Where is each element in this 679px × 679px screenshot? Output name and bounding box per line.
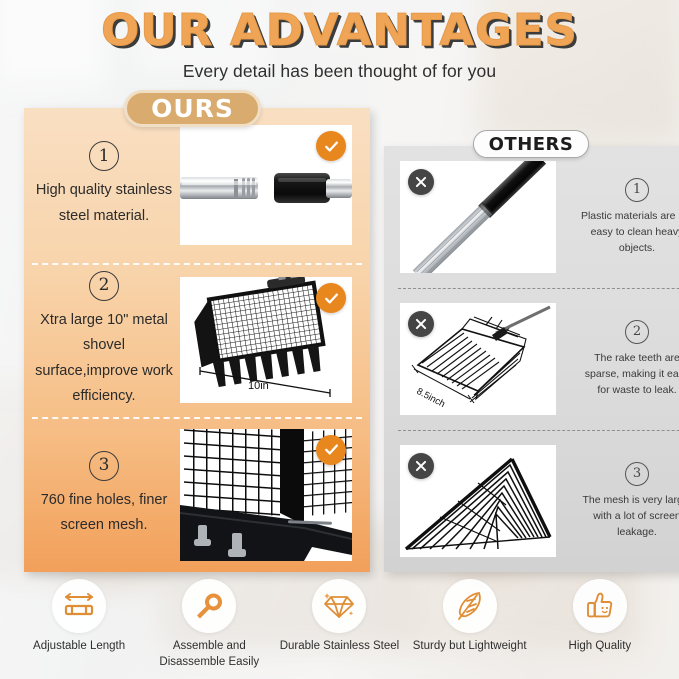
adjustable-length-icon <box>52 579 106 633</box>
others-badge: OTHERS <box>473 130 589 158</box>
thumbs-up-icon <box>573 579 627 633</box>
ours-row-1-number: 1 <box>89 141 119 171</box>
feature-lightweight: Sturdy but Lightweight <box>409 579 531 655</box>
x-icon <box>408 453 434 479</box>
feature-high-quality-label: High Quality <box>539 639 661 655</box>
ours-row-2-number: 2 <box>89 271 119 301</box>
others-row-2-image: 8.5inch <box>400 303 556 415</box>
ours-badge: OURS <box>124 90 261 127</box>
feature-high-quality: High Quality <box>539 579 661 655</box>
ours-row-2-description: Xtra large 10" metal shovel surface,impr… <box>34 308 174 410</box>
others-row-3-description: The mesh is very large, with a lot of sc… <box>578 492 679 541</box>
header: OUR ADVANTAGES Every detail has been tho… <box>0 8 679 82</box>
others-row-2-dimension-label: 8.5inch <box>415 386 447 410</box>
others-row-1-description: Plastic materials are not easy to clean … <box>578 208 679 257</box>
wrench-icon <box>182 579 236 633</box>
feature-lightweight-label: Sturdy but Lightweight <box>409 639 531 655</box>
others-row-2: 8.5inch 2 The rake teeth are sparse, mak… <box>384 288 679 430</box>
check-icon <box>316 435 346 465</box>
feature-strip: Adjustable Length Assemble and Disassemb… <box>0 579 679 671</box>
others-row-3-image <box>400 445 556 557</box>
others-row-3-number: 3 <box>625 462 649 486</box>
feature-durable: Durable Stainless Steel <box>278 579 400 655</box>
others-row-3: 3 The mesh is very large, with a lot of … <box>384 430 679 572</box>
x-icon <box>408 311 434 337</box>
ours-row-1-description: High quality stainless steel material. <box>34 178 174 229</box>
page-title: OUR ADVANTAGES <box>0 8 679 54</box>
others-panel: 1 Plastic materials are not easy to clea… <box>384 146 679 572</box>
others-row-3-text-block: 3 The mesh is very large, with a lot of … <box>578 462 679 541</box>
feature-adjustable-length: Adjustable Length <box>18 579 140 655</box>
diamond-icon <box>312 579 366 633</box>
check-icon <box>316 283 346 313</box>
page-subtitle: Every detail has been thought of for you <box>0 61 679 82</box>
feather-icon <box>443 579 497 633</box>
ours-row-1: 1 High quality stainless steel material. <box>24 108 370 263</box>
others-row-1-number: 1 <box>625 178 649 202</box>
ours-row-1-text-block: 1 High quality stainless steel material. <box>24 141 174 229</box>
ours-row-2-image: 10in <box>180 277 352 403</box>
ours-row-3: 3 760 fine holes, finer screen mesh. <box>24 417 370 572</box>
others-row-2-text-block: 2 The rake teeth are sparse, making it e… <box>578 320 679 399</box>
x-icon <box>408 169 434 195</box>
ours-row-3-text-block: 3 760 fine holes, finer screen mesh. <box>24 451 174 539</box>
ours-row-2-text-block: 2 Xtra large 10" metal shovel surface,im… <box>24 271 174 410</box>
feature-adjustable-length-label: Adjustable Length <box>18 639 140 655</box>
ours-panel: 1 High quality stainless steel material. <box>24 108 370 572</box>
ours-row-1-image <box>180 125 352 245</box>
feature-durable-label: Durable Stainless Steel <box>278 639 400 655</box>
others-row-1-text-block: 1 Plastic materials are not easy to clea… <box>578 178 679 257</box>
others-row-1: 1 Plastic materials are not easy to clea… <box>384 146 679 288</box>
ours-row-2: 2 Xtra large 10" metal shovel surface,im… <box>24 263 370 418</box>
ours-row-3-image <box>180 429 352 561</box>
feature-assemble: Assemble and Disassemble Easily <box>148 579 270 670</box>
ours-row-3-description: 760 fine holes, finer screen mesh. <box>34 488 174 539</box>
others-row-2-description: The rake teeth are sparse, making it eas… <box>578 350 679 399</box>
feature-assemble-label: Assemble and Disassemble Easily <box>148 639 270 670</box>
ours-row-3-number: 3 <box>89 451 119 481</box>
others-row-1-image <box>400 161 556 273</box>
others-row-2-number: 2 <box>625 320 649 344</box>
ours-row-2-dimension-label: 10in <box>248 380 269 392</box>
